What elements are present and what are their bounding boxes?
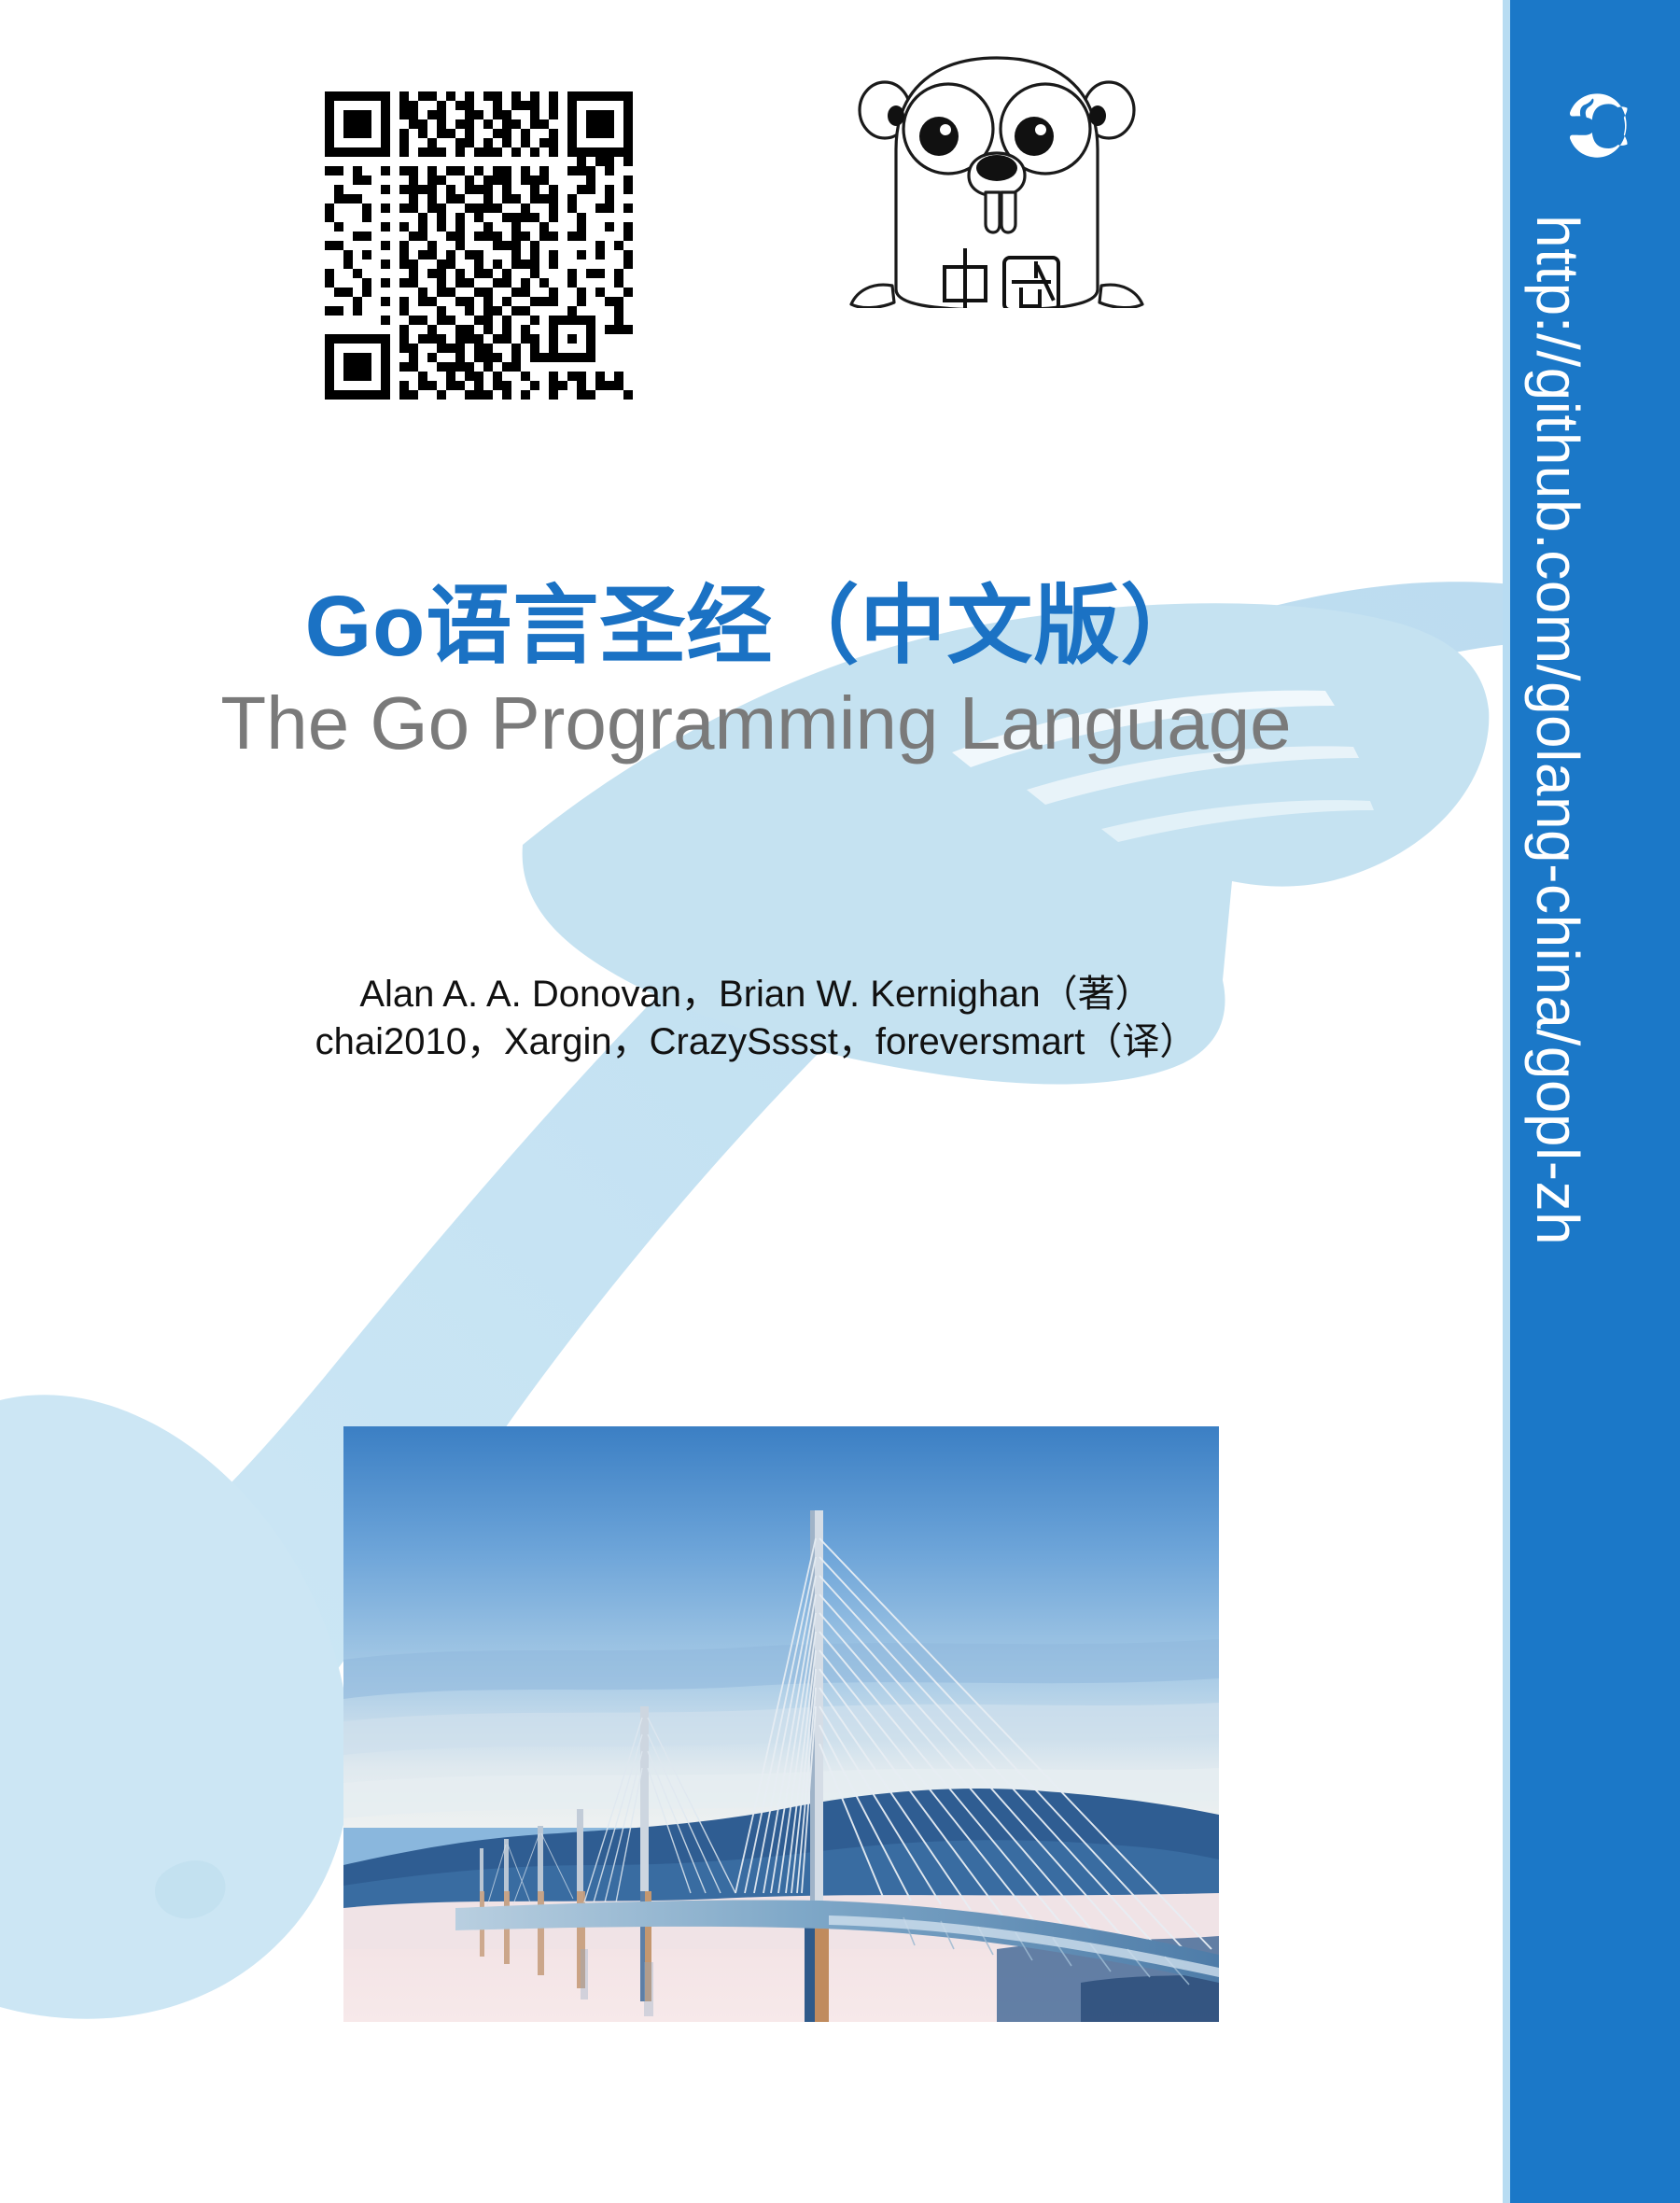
github-sidebar: http://github.com/golang-china/gopl-zh	[1510, 0, 1680, 2203]
page-subtitle-english: The Go Programming Language	[0, 682, 1512, 765]
credits-block: Alan A. A. Donovan，Brian W. Kernighan（著）…	[0, 971, 1512, 1066]
translators-line: chai2010，Xargin，CrazySssst，foreversmart（…	[0, 1018, 1512, 1066]
book-cover: Go语言圣经（中文版） The Go Programming Language …	[0, 0, 1680, 2203]
github-octocat-icon[interactable]	[1543, 73, 1647, 177]
page-title-chinese: Go语言圣经（中文版）	[0, 579, 1512, 675]
go-gopher-china-icon	[838, 37, 1155, 308]
sidebar-edge-strip	[1503, 0, 1510, 2203]
authors-line: Alan A. A. Donovan，Brian W. Kernighan（著）	[0, 971, 1512, 1018]
millau-viaduct-bridge-photo	[343, 1426, 1219, 2022]
github-url-text[interactable]: http://github.com/golang-china/gopl-zh	[1523, 215, 1592, 1988]
qr-code-icon[interactable]	[325, 91, 633, 400]
title-block: Go语言圣经（中文版） The Go Programming Language	[0, 579, 1512, 765]
